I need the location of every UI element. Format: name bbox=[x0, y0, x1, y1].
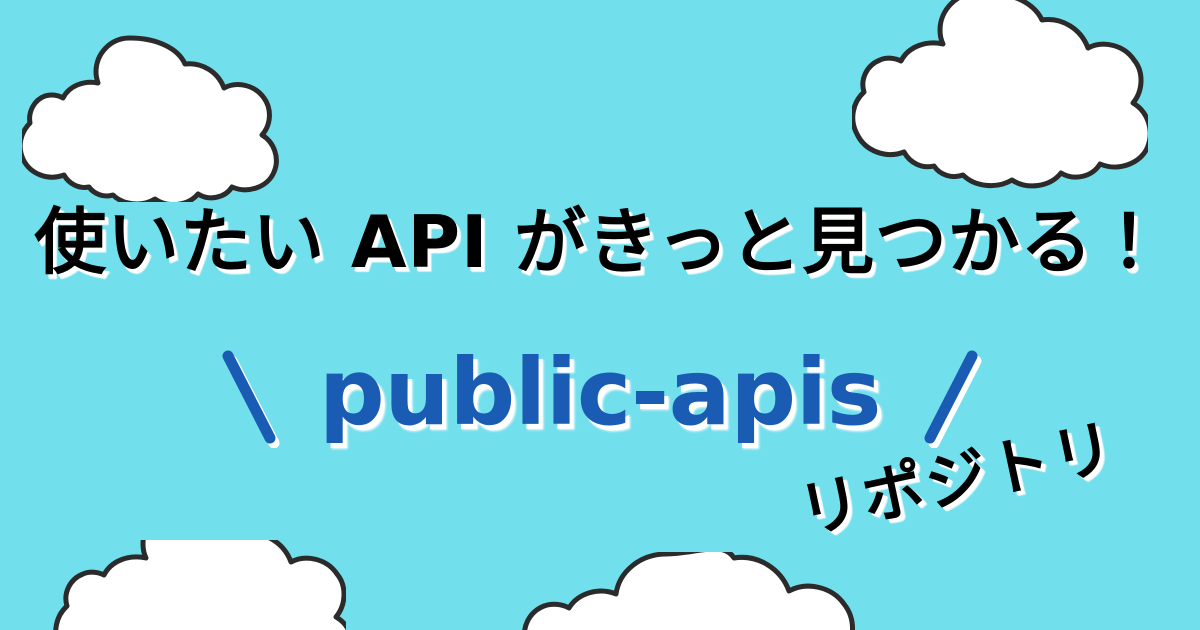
banner-canvas: 使いたい API がきっと見つかる！ public-apis リポジトリ bbox=[0, 0, 1200, 630]
cloud-icon-top-left bbox=[22, 24, 298, 202]
cloud-icon-bottom-left bbox=[46, 540, 346, 630]
headline-text: 使いたい API がきっと見つかる！ bbox=[0, 206, 1200, 278]
left-backslash-icon bbox=[215, 344, 285, 448]
repository-title: public-apis bbox=[319, 347, 881, 445]
cloud-icon-bottom-center bbox=[470, 552, 902, 630]
right-forwardslash-icon bbox=[915, 344, 985, 448]
cloud-icon-top-right bbox=[852, 0, 1148, 196]
